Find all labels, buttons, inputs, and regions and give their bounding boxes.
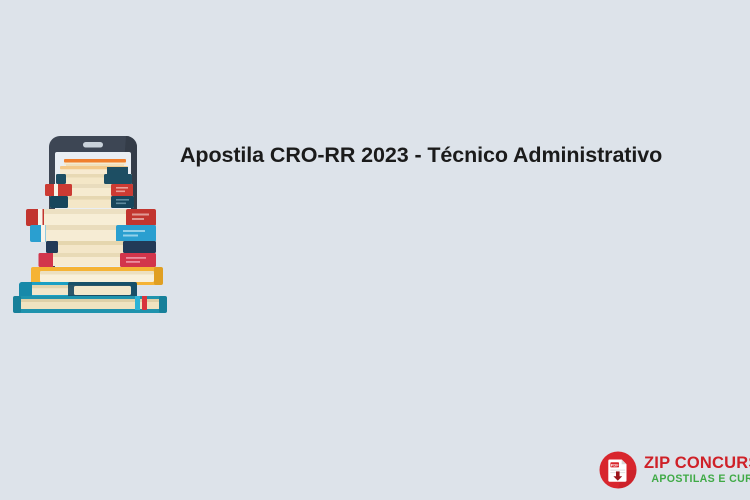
tablet-with-book-stack-illustration <box>8 130 174 316</box>
brand-logo[interactable]: PDF ZIP CONCURSOS APOSTILAS E CURSOS <box>599 450 750 490</box>
bookmark-red <box>142 296 147 310</box>
book-navy-seventh <box>46 241 156 253</box>
book-red-fourth <box>45 184 133 196</box>
brand-wordmark: ZIP CONCURSOS APOSTILAS E CURSOS <box>644 455 750 485</box>
book-dark-teal-fifth <box>50 196 134 208</box>
brand-tagline: APOSTILAS E CURSOS <box>644 474 750 485</box>
bookmark-cyan <box>135 296 140 310</box>
product-banner: Apostila CRO-RR 2023 - Técnico Administr… <box>0 0 750 500</box>
book-dark-teal-third <box>56 174 132 184</box>
book-base-teal <box>13 296 167 313</box>
brand-name: ZIP CONCURSOS <box>644 455 750 472</box>
book-red-large <box>26 209 156 226</box>
pdf-download-circle-icon: PDF <box>599 451 637 489</box>
page-title: Apostila CRO-RR 2023 - Técnico Administr… <box>180 141 720 169</box>
book-crimson-eighth <box>39 253 157 267</box>
book-thin-orange-top <box>64 159 126 167</box>
book-cream-second <box>60 166 128 174</box>
svg-text:PDF: PDF <box>611 462 619 467</box>
book-blue-large <box>30 225 156 242</box>
